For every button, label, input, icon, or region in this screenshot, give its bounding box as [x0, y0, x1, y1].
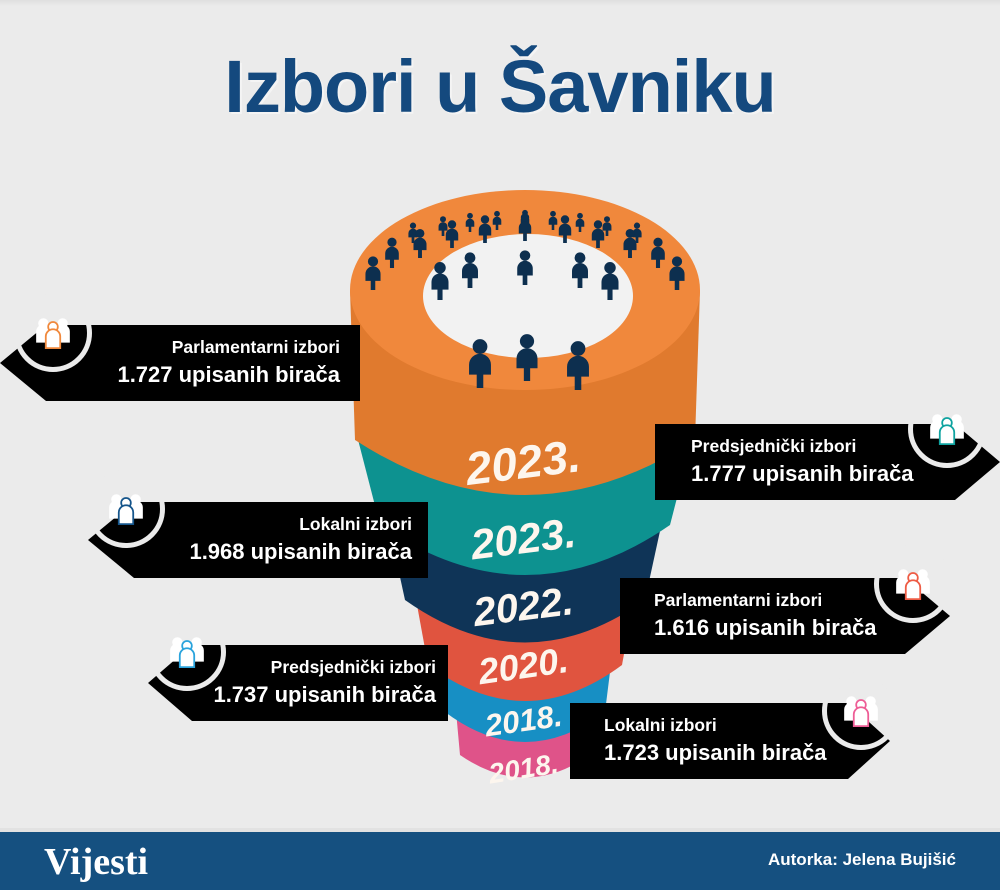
author-credit: Autorka: Jelena Bujišić [768, 850, 956, 870]
footer-bar: Vijesti Autorka: Jelena Bujišić [0, 832, 1000, 890]
banner-election-name: Predsjednički izbori [691, 436, 856, 458]
badge-icon-3[interactable] [87, 470, 165, 548]
people-group-icon [891, 562, 935, 606]
people-group-icon [31, 311, 75, 355]
badge-icon-4[interactable] [874, 545, 952, 623]
vijesti-logo: Vijesti [44, 840, 148, 884]
banner-voter-count: 1.727 upisanih birača [117, 361, 340, 389]
banner-voter-count: 1.737 upisanih birača [213, 681, 436, 709]
banner-election-name: Lokalni izbori [604, 715, 717, 737]
banner-voter-count: 1.723 upisanih birača [604, 739, 827, 767]
people-group-icon [165, 630, 209, 674]
infographic-canvas: Izbori u Šavniku [0, 0, 1000, 890]
banner-election-name: Predsjednički izbori [271, 657, 436, 679]
people-group-icon [925, 407, 969, 451]
banner-election-name: Lokalni izbori [299, 514, 412, 536]
badge-icon-2[interactable] [908, 390, 986, 468]
badge-icon-6[interactable] [822, 672, 900, 750]
banner-election-name: Parlamentarni izbori [654, 590, 822, 612]
banner-voter-count: 1.777 upisanih birača [691, 460, 914, 488]
banner-voter-count: 1.616 upisanih birača [654, 614, 877, 642]
people-group-icon [839, 689, 883, 733]
badge-icon-5[interactable] [148, 613, 226, 691]
banner-voter-count: 1.968 upisanih birača [189, 538, 412, 566]
people-group-icon [104, 487, 148, 531]
banner-election-name: Parlamentarni izbori [172, 337, 340, 359]
badge-icon-1[interactable] [14, 294, 92, 372]
